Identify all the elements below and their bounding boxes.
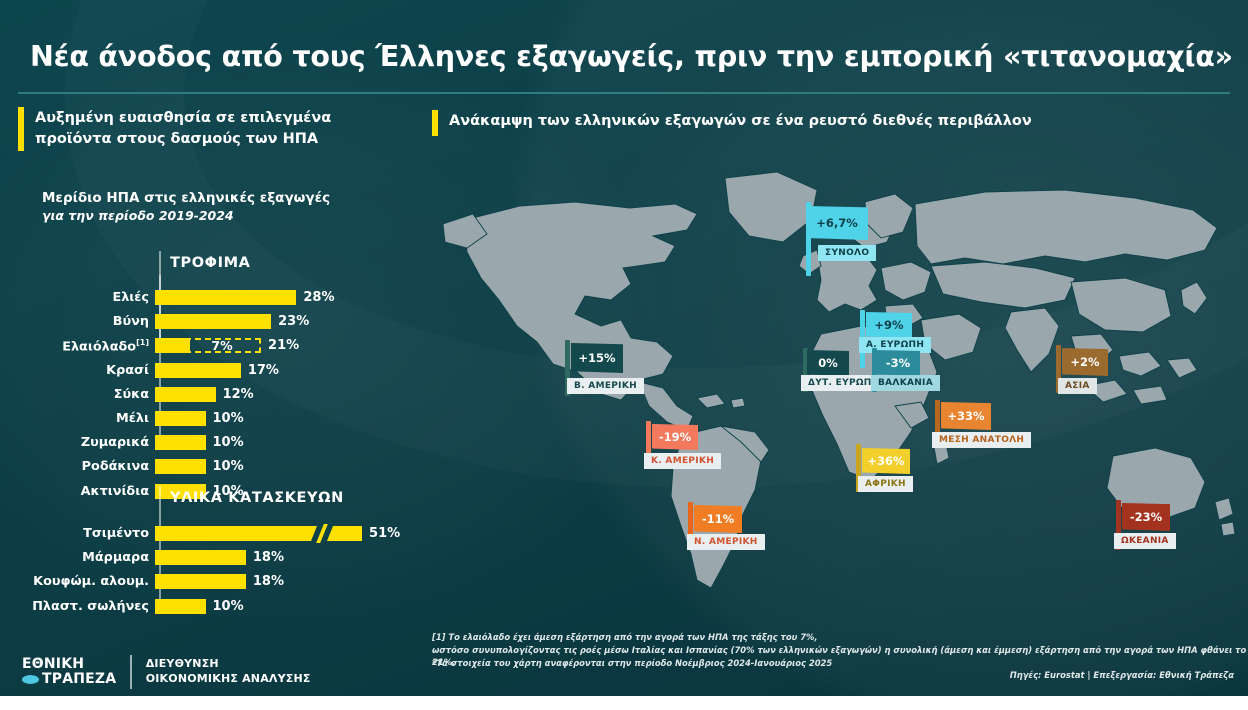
bar-category-label: Ζυμαρικά bbox=[0, 435, 155, 450]
flag-region-label: Β. ΑΜΕΡΙΚΗ bbox=[567, 378, 644, 394]
right-section-subtitle: Ανάκαμψη των ελληνικών εξαγωγών σε ένα ρ… bbox=[432, 110, 1032, 136]
bar-category-label: Κουφώμ. αλουμ. bbox=[0, 574, 155, 589]
bar-track bbox=[155, 574, 246, 589]
logo-oval-icon bbox=[22, 675, 39, 684]
logo-line-1: ΕΘΝΙΚΗ bbox=[22, 657, 116, 672]
bar-row: Κρασί17% bbox=[0, 361, 420, 380]
flag-value-banner: -3% bbox=[876, 350, 920, 376]
flag-region-label: ΜΕΣΗ ΑΝΑΤΟΛΗ bbox=[932, 432, 1031, 448]
bar-category-label: Ελαιόλαδο[1] bbox=[0, 338, 155, 354]
flag-region-label: ΣΥΝΟΛΟ bbox=[818, 245, 876, 261]
bar-fill bbox=[155, 550, 246, 565]
bar-category-label: Μέλι bbox=[0, 411, 155, 426]
source-attribution: Πηγές: Eurostat | Επεξεργασία: Εθνική Τρ… bbox=[1010, 670, 1234, 680]
bar-fill bbox=[155, 290, 296, 305]
flag-value-banner: +6,7% bbox=[806, 206, 868, 240]
logo-divider bbox=[130, 655, 131, 689]
chart-title: Μερίδιο ΗΠΑ στις ελληνικές εξαγωγές bbox=[42, 190, 330, 206]
flag-region-label: ΑΦΡΙΚΗ bbox=[858, 476, 913, 492]
bar-chart-panel: Μερίδιο ΗΠΑ στις ελληνικές εξαγωγές για … bbox=[0, 175, 420, 625]
bar-track bbox=[155, 411, 206, 426]
bar-row: Ελιές28% bbox=[0, 288, 420, 307]
bar-track bbox=[155, 550, 246, 565]
bar-category-label: Μάρμαρα bbox=[0, 550, 155, 565]
logo-line-2-text: ΤΡΑΠΕΖΑ bbox=[42, 672, 116, 687]
bar-category-label: Ακτινίδια bbox=[0, 484, 155, 499]
bar-fill bbox=[155, 459, 206, 474]
world-map-panel: +6,7%ΣΥΝΟΛΟ+15%Β. ΑΜΕΡΙΚΗ+9%Α. ΕΥΡΩΠΗ0%Δ… bbox=[425, 150, 1245, 620]
bar-value-label: 17% bbox=[248, 363, 279, 378]
bar-fill bbox=[155, 363, 241, 378]
bar-value-label: 10% bbox=[213, 411, 244, 426]
chart-group-heading-food: ΤΡΟΦΙΜΑ bbox=[170, 255, 250, 271]
bar-track bbox=[155, 363, 241, 378]
bar-row: Σύκα12% bbox=[0, 385, 420, 404]
flag-value-banner: -11% bbox=[694, 505, 742, 533]
bar-value-label: 28% bbox=[303, 290, 334, 305]
bar-value-label: 18% bbox=[253, 550, 284, 565]
bar-track bbox=[155, 387, 216, 402]
bar-value-label: 23% bbox=[278, 314, 309, 329]
right-subtitle-text: Ανάκαμψη των ελληνικών εξαγωγών σε ένα ρ… bbox=[438, 110, 1032, 132]
bar-track bbox=[155, 314, 271, 329]
flag-region-label: ΩΚΕΑΝΙΑ bbox=[1114, 533, 1176, 549]
bar-track: 7% bbox=[155, 338, 261, 353]
bar-value-label: 21% bbox=[268, 338, 299, 353]
flag-value-banner: +15% bbox=[571, 343, 623, 373]
flag-value-banner: -23% bbox=[1122, 503, 1170, 531]
bar-category-label: Σύκα bbox=[0, 387, 155, 402]
flag-value-banner: -19% bbox=[652, 424, 698, 450]
bar-row: Βύνη23% bbox=[0, 312, 420, 331]
bar-category-label: Ελιές bbox=[0, 290, 155, 305]
bar-value-label: 12% bbox=[223, 387, 254, 402]
left-subtitle-text: Αυξημένη ευαισθησία σε επιλεγμένα προϊόν… bbox=[24, 107, 331, 149]
bar-value-label: 51% bbox=[369, 526, 400, 541]
flag-region-label: ΑΣΙΑ bbox=[1058, 378, 1097, 394]
bar-fill bbox=[155, 435, 206, 450]
bar-row: Μέλι10% bbox=[0, 409, 420, 428]
bar-value-label: 10% bbox=[213, 435, 244, 450]
flag-value-banner: +2% bbox=[1062, 348, 1108, 376]
bar-category-label: Τσιμέντο bbox=[0, 526, 155, 541]
bar-value-label: 18% bbox=[253, 574, 284, 589]
footer-bar bbox=[0, 696, 1248, 710]
left-subtitle-line-1: Αυξημένη ευαισθησία σε επιλεγμένα bbox=[35, 108, 331, 129]
bar-track bbox=[155, 526, 362, 541]
department-name: ΔΙΕΥΘΥΝΣΗ ΟΙΚΟΝΟΜΙΚΗΣ ΑΝΑΛΥΣΗΣ bbox=[146, 657, 311, 687]
bar-row: Ροδάκινα10% bbox=[0, 457, 420, 476]
flag-value-banner: +33% bbox=[941, 402, 991, 430]
bar-fill bbox=[155, 574, 246, 589]
bar-dashed-extension: 7% bbox=[155, 338, 261, 353]
bar-category-label: Βύνη bbox=[0, 314, 155, 329]
footnote-line-1: [1] Το ελαιόλαδο έχει άμεση εξάρτηση από… bbox=[432, 631, 1248, 644]
bar-row: Κουφώμ. αλουμ.18% bbox=[0, 572, 420, 591]
footnote-marker: [1] bbox=[136, 338, 149, 347]
bar-value-label: 10% bbox=[213, 459, 244, 474]
bar-track bbox=[155, 435, 206, 450]
left-subtitle-line-2: προϊόντα στους δασμούς των ΗΠΑ bbox=[35, 129, 331, 150]
bar-row: Μάρμαρα18% bbox=[0, 548, 420, 567]
logo-line-2: ΤΡΑΠΕΖΑ bbox=[22, 672, 116, 687]
bar-row: Πλαστ. σωλήνες10% bbox=[0, 597, 420, 616]
bar-track bbox=[155, 290, 296, 305]
bar-category-label: Ροδάκινα bbox=[0, 459, 155, 474]
chart-group-heading-construction: ΥΛΙΚΑ ΚΑΤΑΣΚΕΥΩΝ bbox=[170, 490, 344, 506]
organization-logo: ΕΘΝΙΚΗ ΤΡΑΠΕΖΑ ΔΙΕΥΘΥΝΣΗ ΟΙΚΟΝΟΜΙΚΗΣ ΑΝΑ… bbox=[22, 655, 311, 689]
bar-track bbox=[155, 459, 206, 474]
flag-region-label: ΒΑΛΚΑΝΙΑ bbox=[871, 375, 940, 391]
bar-category-label: Κρασί bbox=[0, 363, 155, 378]
bar-fill bbox=[155, 411, 206, 426]
bar-row: Τσιμέντο51% bbox=[0, 524, 420, 543]
left-section-subtitle: Αυξημένη ευαισθησία σε επιλεγμένα προϊόν… bbox=[18, 107, 331, 151]
logo-wordmark: ΕΘΝΙΚΗ ΤΡΑΠΕΖΑ bbox=[22, 657, 116, 687]
flag-value-banner: +36% bbox=[862, 448, 910, 474]
bar-direct-value-label: 7% bbox=[211, 338, 232, 353]
bar-row: Ζυμαρικά10% bbox=[0, 433, 420, 452]
bar-fill bbox=[155, 387, 216, 402]
infographic-root: Νέα άνοδος από τους Έλληνες εξαγωγείς, π… bbox=[0, 0, 1248, 710]
bar-fill bbox=[155, 599, 206, 614]
bar-fill bbox=[155, 314, 271, 329]
chart-subtitle: για την περίοδο 2019-2024 bbox=[42, 208, 234, 223]
department-line-1: ΔΙΕΥΘΥΝΣΗ bbox=[146, 657, 311, 672]
flag-region-label: Ν. ΑΜΕΡΙΚΗ bbox=[687, 534, 765, 550]
header-divider bbox=[18, 92, 1230, 94]
flag-value-banner: 0% bbox=[807, 350, 849, 376]
footnote-map-period: *Τα στοιχεία του χάρτη αναφέρονται στην … bbox=[432, 657, 832, 670]
page-title: Νέα άνοδος από τους Έλληνες εξαγωγείς, π… bbox=[30, 40, 1233, 73]
flag-region-label: Κ. ΑΜΕΡΙΚΗ bbox=[644, 453, 721, 469]
department-line-2: ΟΙΚΟΝΟΜΙΚΗΣ ΑΝΑΛΥΣΗΣ bbox=[146, 672, 311, 687]
bar-value-label: 10% bbox=[213, 599, 244, 614]
bar-category-label: Πλαστ. σωλήνες bbox=[0, 599, 155, 614]
bar-track bbox=[155, 599, 206, 614]
bar-row: Ελαιόλαδο[1]7%21% bbox=[0, 336, 420, 355]
flag-value-banner: +9% bbox=[866, 312, 912, 338]
